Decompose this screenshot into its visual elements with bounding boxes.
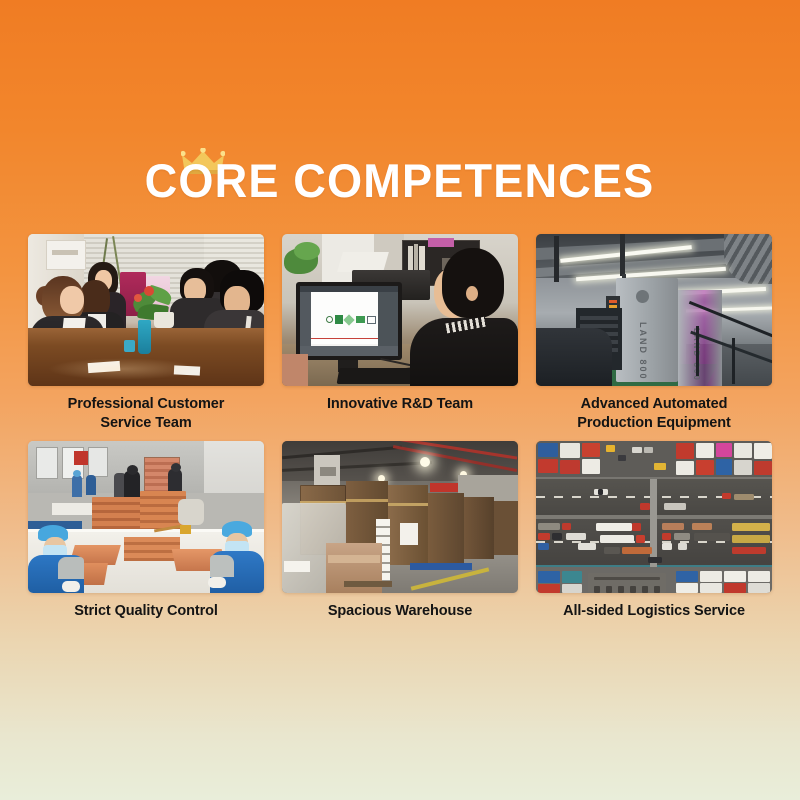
page-title: CORE COMPETENCES xyxy=(145,152,655,210)
competences-grid: Professional Customer Service Team xyxy=(28,234,772,621)
card-caption: Innovative R&D Team xyxy=(282,395,518,414)
card-all-sided-logistics-service[interactable]: All-sided Logistics Service xyxy=(536,441,772,621)
title-block: CORE COMPETENCES xyxy=(0,152,800,210)
meeting-room-photo xyxy=(28,234,264,386)
card-spacious-warehouse[interactable]: Spacious Warehouse xyxy=(282,441,518,621)
card-innovative-rd-team[interactable]: Innovative R&D Team xyxy=(282,234,518,433)
card-caption: Professional Customer Service Team xyxy=(28,395,264,433)
card-caption: Spacious Warehouse xyxy=(282,602,518,621)
warehouse-pallets-photo xyxy=(282,441,518,593)
workers-inspecting-boxes-photo xyxy=(28,441,264,593)
aerial-port-logistics-photo xyxy=(536,441,772,593)
card-caption: Strict Quality Control xyxy=(28,602,264,621)
designer-at-computer-photo xyxy=(282,234,518,386)
card-advanced-automated-production-equipment[interactable]: LAND 800 LAND 800 Advanced Automated Pro… xyxy=(536,234,772,433)
card-strict-quality-control[interactable]: Strict Quality Control xyxy=(28,441,264,621)
card-professional-customer-service-team[interactable]: Professional Customer Service Team xyxy=(28,234,264,433)
card-caption: All-sided Logistics Service xyxy=(536,602,772,621)
card-caption: Advanced Automated Production Equipment xyxy=(536,395,772,433)
core-competences-banner: CORE COMPETENCES xyxy=(0,0,800,800)
machine-label-primary: LAND 800 xyxy=(638,322,648,381)
printing-press-machinery-photo: LAND 800 LAND 800 xyxy=(536,234,772,386)
